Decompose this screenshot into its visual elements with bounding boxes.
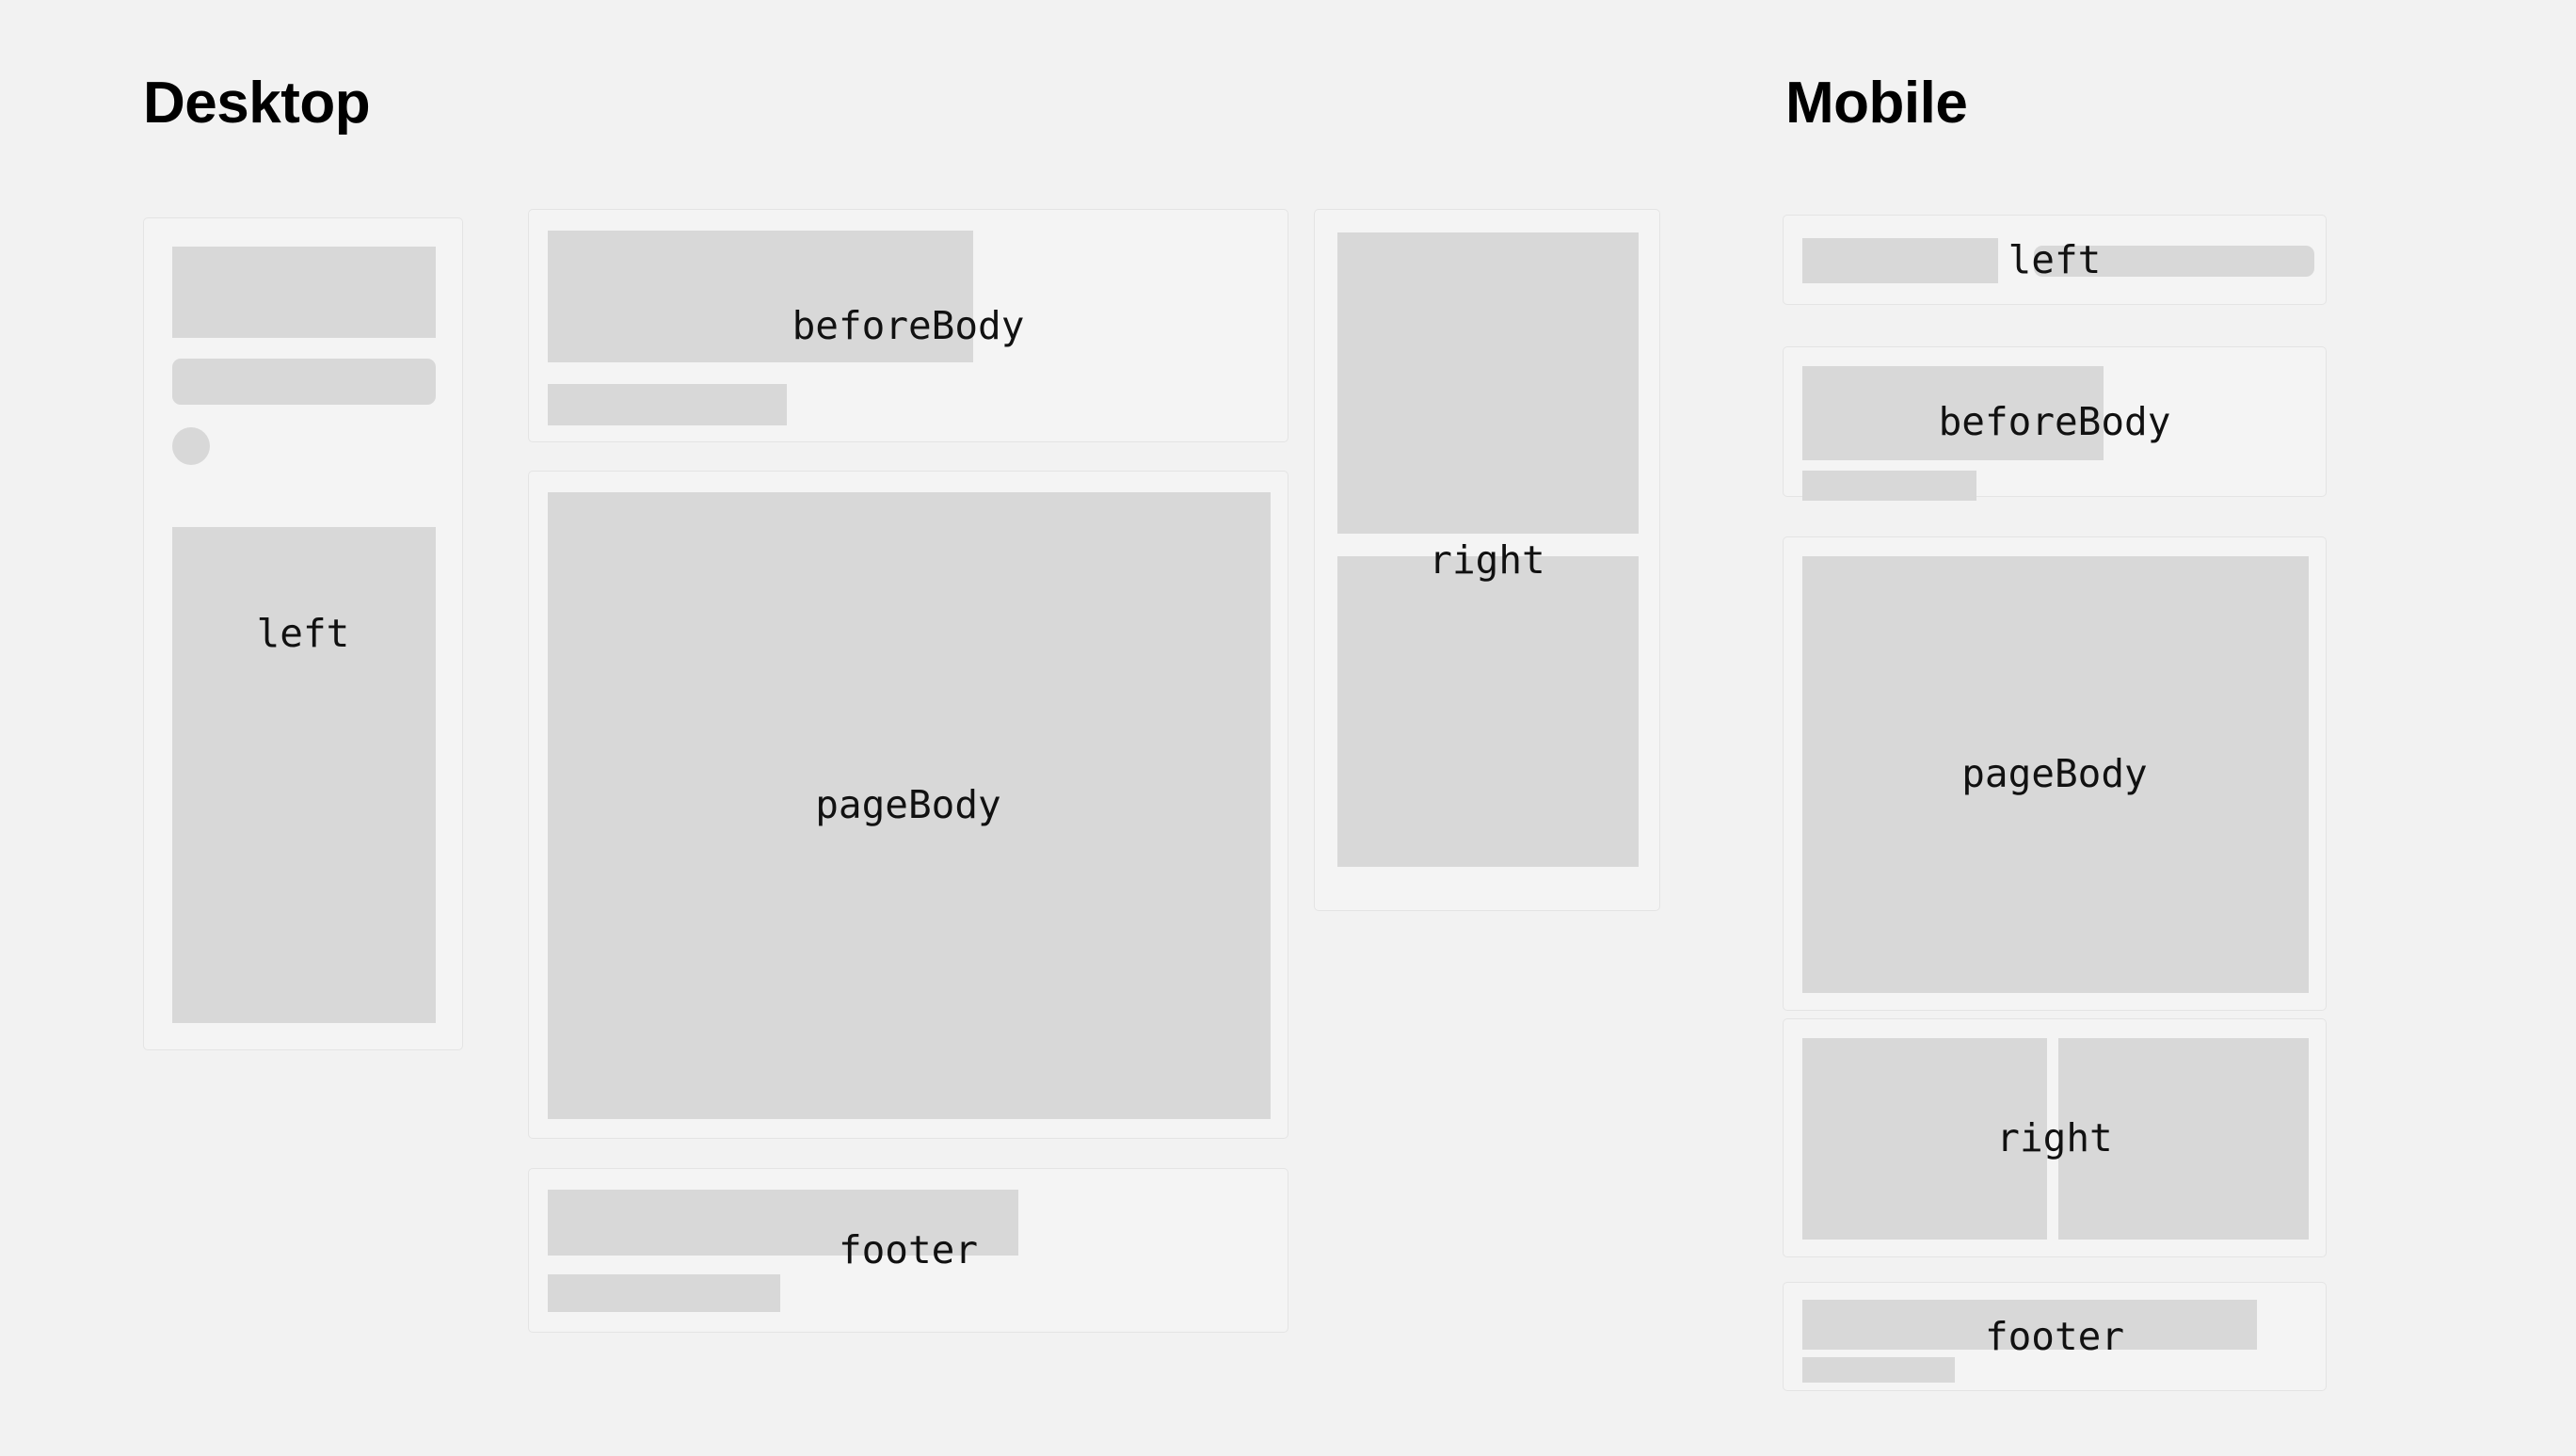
skeleton-block bbox=[1337, 232, 1639, 534]
skeleton-block bbox=[548, 384, 787, 425]
skeleton-block bbox=[2058, 1038, 2309, 1240]
skeleton-block bbox=[172, 247, 436, 338]
desktop-section-title: Desktop bbox=[143, 74, 370, 133]
mobile-slot-right[interactable]: right bbox=[1783, 1018, 2327, 1257]
skeleton-circle bbox=[172, 427, 210, 465]
skeleton-block bbox=[1802, 556, 2309, 993]
desktop-slot-beforebody[interactable]: beforeBody bbox=[528, 209, 1288, 442]
mobile-slot-left[interactable]: left bbox=[1783, 215, 2327, 305]
skeleton-pill bbox=[172, 359, 436, 405]
wireframe-canvas: Desktop left beforeBody pageBody footer … bbox=[0, 0, 2576, 1456]
skeleton-block bbox=[1802, 1038, 2047, 1240]
skeleton-block bbox=[172, 527, 436, 1023]
skeleton-block bbox=[1802, 1357, 1955, 1383]
mobile-slot-footer[interactable]: footer bbox=[1783, 1282, 2327, 1391]
skeleton-block bbox=[1802, 238, 1998, 283]
mobile-slot-pagebody[interactable]: pageBody bbox=[1783, 536, 2327, 1011]
skeleton-block bbox=[1802, 366, 2104, 460]
skeleton-block bbox=[548, 1274, 780, 1312]
skeleton-block bbox=[1337, 556, 1639, 867]
desktop-slot-left[interactable]: left bbox=[143, 217, 463, 1050]
mobile-section-title: Mobile bbox=[1785, 74, 1967, 133]
skeleton-block bbox=[1802, 1300, 2257, 1350]
desktop-slot-right[interactable]: right bbox=[1314, 209, 1660, 911]
mobile-slot-beforebody[interactable]: beforeBody bbox=[1783, 346, 2327, 497]
desktop-slot-pagebody[interactable]: pageBody bbox=[528, 471, 1288, 1139]
skeleton-pill bbox=[2034, 246, 2314, 277]
desktop-slot-footer[interactable]: footer bbox=[528, 1168, 1288, 1333]
skeleton-block bbox=[548, 231, 973, 362]
skeleton-block bbox=[548, 1190, 1018, 1256]
skeleton-block bbox=[548, 492, 1271, 1119]
skeleton-circle bbox=[2283, 248, 2309, 274]
skeleton-block bbox=[1802, 471, 1976, 501]
